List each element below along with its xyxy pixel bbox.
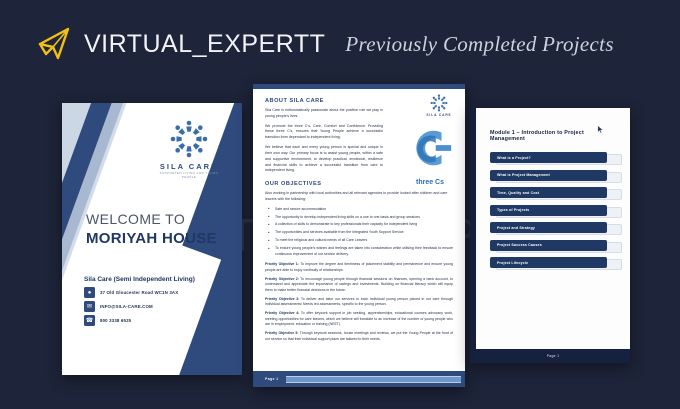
module-button-label: Types of Projects — [497, 208, 529, 212]
cover-logo-subtitle: SUPPORTED LIVING FOR YOUNG PEOPLE — [154, 171, 224, 179]
list-item: To meet the religious and cultural needs… — [265, 238, 453, 243]
about-paragraph: We promote the three C's, Care, Comfort … — [265, 124, 383, 141]
envelope-icon: ✉ — [84, 301, 95, 312]
contact-title: Sila Care (Semi Independent Living) — [84, 276, 224, 283]
contact-row-email: ✉ INFO@SILA-CARE.COM — [84, 301, 224, 312]
module-content: Module 1 – Introduction to Project Manag… — [476, 108, 630, 363]
contact-address: 37 Old Gloucester Road WC1N 3AX — [100, 290, 178, 295]
module-button-what-is-a-project[interactable]: What is a Project? — [490, 152, 607, 163]
footer-bar — [286, 376, 461, 383]
module-button-row[interactable]: Project Lifecycle — [490, 257, 616, 268]
module-button-row[interactable]: Time, Quality and Cost — [490, 187, 616, 198]
cover-logo-name: SILA CARE — [154, 162, 224, 171]
three-cs-logo: three Cs — [399, 123, 461, 186]
module-button-row[interactable]: Types of Projects — [490, 205, 616, 216]
about-paragraphs: Sila Care is enthusiastically passionate… — [265, 108, 383, 174]
cover-contact-block: Sila Care (Semi Independent Living) ● 37… — [84, 276, 224, 329]
document-cover-page[interactable]: SILA CARE SUPPORTED LIVING FOR YOUNG PEO… — [62, 103, 242, 375]
list-item: Safe and secure accommodation — [265, 207, 453, 212]
contact-phone: 800 3338 6525 — [100, 318, 131, 323]
page-header: VIRTUAL_EXPERTT Previously Completed Pro… — [0, 0, 680, 88]
priority-objective-label: Priority Objective 5: — [265, 331, 299, 335]
module-button-row[interactable]: What is Project Management — [490, 170, 616, 181]
screenshot-canvas: VIRTUAL_EXPERTT Previously Completed Pro… — [0, 0, 680, 409]
three-cs-label: three Cs — [399, 179, 461, 186]
module-button-label: Project Success Causes — [497, 243, 542, 247]
priority-objective: Priority Objective 1: To improve the deg… — [265, 262, 453, 273]
objectives-lead: Also working in partnership with local a… — [265, 191, 453, 203]
priority-objective-label: Priority Objective 1: — [265, 262, 299, 266]
module-button-project-success-causes[interactable]: Project Success Causes — [490, 240, 607, 251]
module-button-label: What is a Project? — [497, 156, 531, 160]
document-about-page[interactable]: SILA CARE ABOUT SILA CARE Sila Care is e… — [253, 84, 465, 387]
about-paragraph: Sila Care is enthusiastically passionate… — [265, 108, 383, 120]
module-button-project-lifecycle[interactable]: Project Lifecycle — [490, 257, 607, 268]
brand-title: VIRTUAL_EXPERTT — [84, 30, 325, 59]
priority-objective-label: Priority Objective 3: — [265, 297, 299, 301]
people-circle-icon — [429, 93, 449, 113]
priority-objective-label: Priority Objective 4: — [265, 311, 299, 315]
about-paragraph: We believe that each and every young per… — [265, 145, 383, 174]
welcome-line-2: MORIYAH HOUSE — [86, 230, 217, 247]
list-item: The opportunities and services available… — [265, 230, 453, 235]
priority-objective: Priority Objective 2: To encourage young… — [265, 277, 453, 294]
arrow-paper-plane-icon — [34, 24, 74, 64]
about-page-footer: Page 1 — [253, 371, 465, 387]
module-button-types-of-projects[interactable]: Types of Projects — [490, 205, 607, 216]
welcome-line-1: WELCOME TO — [86, 211, 217, 227]
mouse-cursor-icon — [597, 121, 604, 130]
priority-objective-label: Priority Objective 2: — [265, 277, 299, 281]
page-number: Page 1 — [547, 354, 560, 358]
module-button-row[interactable]: Project Success Causes — [490, 240, 616, 251]
about-logo-name: SILA CARE — [422, 113, 456, 117]
priority-objective: Priority Objective 5: Through keywork se… — [265, 331, 453, 342]
module-button-time-quality-and-cost[interactable]: Time, Quality and Cost — [490, 187, 607, 198]
about-objectives-section: OUR OBJECTIVES Also working in partnersh… — [253, 181, 465, 342]
priority-objective: Priority Objective 3: To deliver and tai… — [265, 297, 453, 308]
module-button-what-is-project-management[interactable]: What is Project Management — [490, 170, 607, 181]
contact-row-address: ● 37 Old Gloucester Road WC1N 3AX — [84, 287, 224, 298]
priority-objective: Priority Objective 4: To offer keywork s… — [265, 311, 453, 328]
about-intro-section: SILA CARE ABOUT SILA CARE Sila Care is e… — [253, 89, 465, 174]
location-pin-icon: ● — [84, 287, 95, 298]
module-button-project-and-strategy[interactable]: Project and Strategy — [490, 222, 607, 233]
contact-row-phone: ☎ 800 3338 6525 — [84, 315, 224, 326]
list-item: A collection of skills to demonstrate to… — [265, 222, 453, 227]
module-button-label: Time, Quality and Cost — [497, 191, 539, 195]
module-button-row[interactable]: What is a Project? — [490, 152, 616, 163]
page-number: Page 1 — [253, 377, 278, 381]
module-button-label: What is Project Management — [497, 173, 550, 177]
list-item: To ensure young people's wishes and feel… — [265, 246, 453, 257]
three-cs-logo-icon — [401, 123, 459, 173]
module-button-label: Project and Strategy — [497, 226, 535, 230]
sila-care-logo: SILA CARE SUPPORTED LIVING FOR YOUNG PEO… — [154, 117, 224, 179]
module-page-footer: Page 1 — [476, 349, 630, 363]
module-button-row[interactable]: Project and Strategy — [490, 222, 616, 233]
objectives-bullet-list: Safe and secure accommodation The opport… — [265, 207, 453, 257]
cover-welcome-block: WELCOME TO MORIYAH HOUSE — [86, 211, 217, 247]
document-module-page[interactable]: Module 1 – Introduction to Project Manag… — [470, 108, 630, 363]
people-circle-icon — [167, 117, 211, 161]
about-sila-logo: SILA CARE — [422, 93, 456, 117]
header-tagline: Previously Completed Projects — [345, 32, 613, 57]
phone-icon: ☎ — [84, 315, 95, 326]
contact-email: INFO@SILA-CARE.COM — [100, 304, 153, 309]
list-item: The opportunity to develop independent l… — [265, 215, 453, 220]
module-button-label: Project Lifecycle — [497, 261, 528, 265]
